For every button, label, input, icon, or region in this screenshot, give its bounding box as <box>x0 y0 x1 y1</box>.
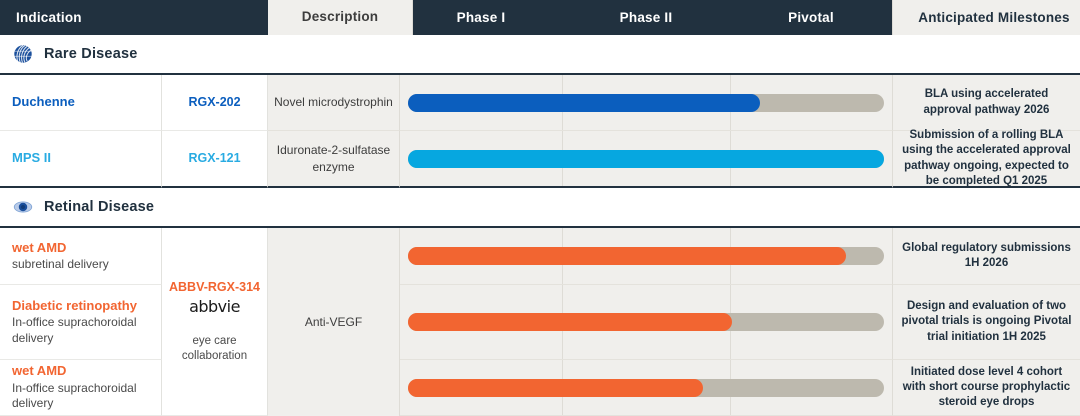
table-row: MPS II RGX-121 Iduronate-2-sulfatase enz… <box>0 131 1080 188</box>
progress-bar <box>408 150 884 168</box>
indication-cell: Duchenne <box>0 75 162 131</box>
progress-track-cell <box>400 131 892 188</box>
column-header-phase-1: Phase I <box>400 0 562 35</box>
column-header-pivotal: Pivotal <box>730 0 892 35</box>
milestone-cell: Design and evaluation of two pivotal tri… <box>892 285 1080 360</box>
column-header-indication: Indication <box>16 0 82 35</box>
description-cell: Iduronate-2-sulfatase enzyme <box>268 131 400 188</box>
progress-bar <box>408 313 884 331</box>
indication-cell: MPS II <box>0 131 162 188</box>
indication-name: wet AMD <box>12 240 151 256</box>
globe-icon <box>12 43 34 65</box>
milestone-cell: Initiated dose level 4 cohort with short… <box>892 360 1080 416</box>
product-code: RGX-121 <box>188 150 240 166</box>
table-row: Duchenne RGX-202 Novel microdystrophin B… <box>0 75 1080 131</box>
table-row: wet AMD In-office suprachoroidal deliver… <box>0 360 1080 416</box>
eye-icon <box>12 196 34 218</box>
indication-name: Duchenne <box>12 94 151 110</box>
progress-bar-fill <box>408 379 703 397</box>
progress-track-cell <box>400 75 892 131</box>
section-header-rare-disease: Rare Disease <box>0 35 1080 75</box>
column-header-description: Description <box>268 0 413 36</box>
section-header-retinal-disease: Retinal Disease <box>0 188 1080 228</box>
progress-bar-fill <box>408 94 760 112</box>
indication-cell: Diabetic retinopathy In-office suprachor… <box>0 285 162 360</box>
pipeline-chart: Indication Description Phase I Phase II … <box>0 0 1080 416</box>
description-cell: Novel microdystrophin <box>268 75 400 131</box>
table-header: Indication Description Phase I Phase II … <box>0 0 1080 35</box>
product-code: RGX-202 <box>188 94 240 110</box>
milestone-cell: Submission of a rolling BLA using the ac… <box>892 131 1080 188</box>
indication-name: wet AMD <box>12 363 151 379</box>
progress-track-cell <box>400 228 892 285</box>
progress-bar <box>408 379 884 397</box>
progress-track-cell <box>400 285 892 360</box>
table-row: Diabetic retinopathy In-office suprachor… <box>0 285 1080 360</box>
progress-bar <box>408 247 884 265</box>
indication-name: MPS II <box>12 150 151 166</box>
progress-bar <box>408 94 884 112</box>
milestone-cell: Global regulatory submissions 1H 2026 <box>892 228 1080 285</box>
column-header-milestones: Anticipated Milestones <box>892 0 1080 36</box>
product-cell: RGX-202 <box>162 75 268 131</box>
milestone-cell: BLA using accelerated approval pathway 2… <box>892 75 1080 131</box>
product-cell: RGX-121 <box>162 131 268 188</box>
table-row: wet AMD subretinal delivery Global regul… <box>0 228 1080 285</box>
column-header-phase-2: Phase II <box>562 0 730 35</box>
indication-subtitle: subretinal delivery <box>12 257 151 273</box>
indication-subtitle: In-office suprachoroidal delivery <box>12 381 151 412</box>
section-title-retinal-disease: Retinal Disease <box>44 199 154 215</box>
indication-name: Diabetic retinopathy <box>12 298 151 314</box>
indication-subtitle: In-office suprachoroidal delivery <box>12 315 151 346</box>
progress-bar-fill <box>408 313 732 331</box>
progress-bar-fill <box>408 150 884 168</box>
indication-cell: wet AMD subretinal delivery <box>0 228 162 285</box>
section-title-rare-disease: Rare Disease <box>44 46 138 62</box>
progress-bar-fill <box>408 247 846 265</box>
indication-cell: wet AMD In-office suprachoroidal deliver… <box>0 360 162 416</box>
progress-track-cell <box>400 360 892 416</box>
